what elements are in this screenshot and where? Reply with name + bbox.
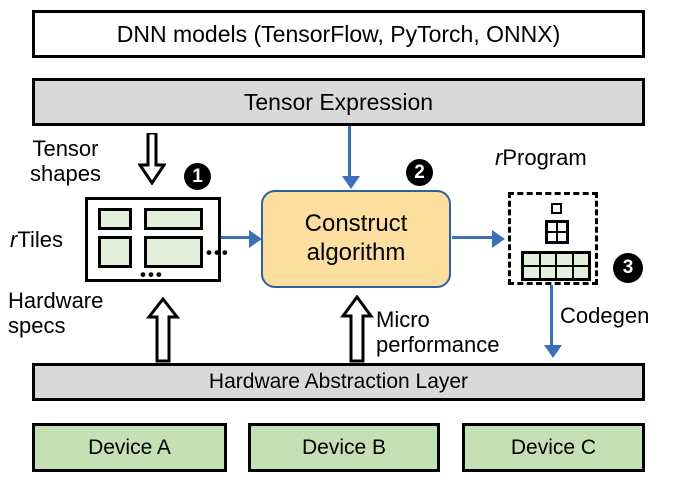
arrow-codegen-to-hal-head xyxy=(544,345,562,358)
rprogram-label-rest: Program xyxy=(502,145,586,170)
grid-cell xyxy=(573,266,590,279)
rtiles-label-rest: Tiles xyxy=(17,227,63,252)
tensor-shapes-label: Tensor shapes xyxy=(30,137,101,186)
tile-rect-4 xyxy=(144,236,203,268)
rprogram-box xyxy=(508,192,598,285)
arrow-construct-to-rprogram-head xyxy=(492,230,505,248)
arrow-tensor-expression-to-construct-head xyxy=(342,176,360,189)
step-badge-2: 2 xyxy=(406,159,433,186)
rprogram-label: rProgram xyxy=(495,146,587,171)
rprogram-unit-square xyxy=(551,203,562,214)
dnn-models-box: DNN models (TensorFlow, PyTorch, ONNX) xyxy=(32,10,645,58)
rprogram-grid-4x2 xyxy=(521,251,591,281)
codegen-label: Codegen xyxy=(560,304,649,329)
step-badge-1: 1 xyxy=(184,163,211,190)
grid-cell xyxy=(547,222,557,232)
arrow-tensor-expression-to-construct xyxy=(348,126,351,178)
grid-cell xyxy=(540,266,557,279)
grid-cell xyxy=(556,266,573,279)
tensor-expression-box: Tensor Expression xyxy=(32,78,645,126)
device-a-box: Device A xyxy=(32,423,227,472)
grid-cell xyxy=(523,266,540,279)
arrow-codegen-to-hal xyxy=(550,285,553,347)
hardware-specs-label: Hardware specs xyxy=(8,289,103,338)
grid-cell xyxy=(547,232,557,242)
rprogram-grid-2x2 xyxy=(545,220,569,244)
micro-performance-label: Micro performance xyxy=(376,308,500,357)
tiles-ellipsis-right: ••• xyxy=(206,244,230,261)
device-b-box: Device B xyxy=(248,423,440,472)
arrow-construct-to-rprogram xyxy=(452,236,496,239)
micro-performance-up-arrow-icon xyxy=(340,295,374,368)
tile-rect-2 xyxy=(144,208,203,230)
grid-cell xyxy=(573,253,590,266)
tiles-ellipsis-bottom: ••• xyxy=(140,266,164,283)
construct-algorithm-box: Construct algorithm xyxy=(261,190,451,288)
diagram-canvas: DNN models (TensorFlow, PyTorch, ONNX) T… xyxy=(0,0,677,497)
grid-cell xyxy=(540,253,557,266)
tensor-shapes-down-arrow-icon xyxy=(138,133,166,190)
device-c-box: Device C xyxy=(462,423,645,472)
grid-cell xyxy=(557,232,567,242)
tile-rect-1 xyxy=(98,208,132,230)
hardware-abstraction-layer-box: Hardware Abstraction Layer xyxy=(32,363,645,401)
rtiles-label: rTiles xyxy=(10,228,63,253)
grid-cell xyxy=(523,253,540,266)
tile-rect-3 xyxy=(98,236,132,268)
grid-cell xyxy=(557,222,567,232)
rtiles-box: ••• ••• xyxy=(85,197,221,282)
grid-cell xyxy=(556,253,573,266)
step-badge-3: 3 xyxy=(613,253,643,283)
hardware-specs-up-arrow-icon xyxy=(146,297,180,368)
